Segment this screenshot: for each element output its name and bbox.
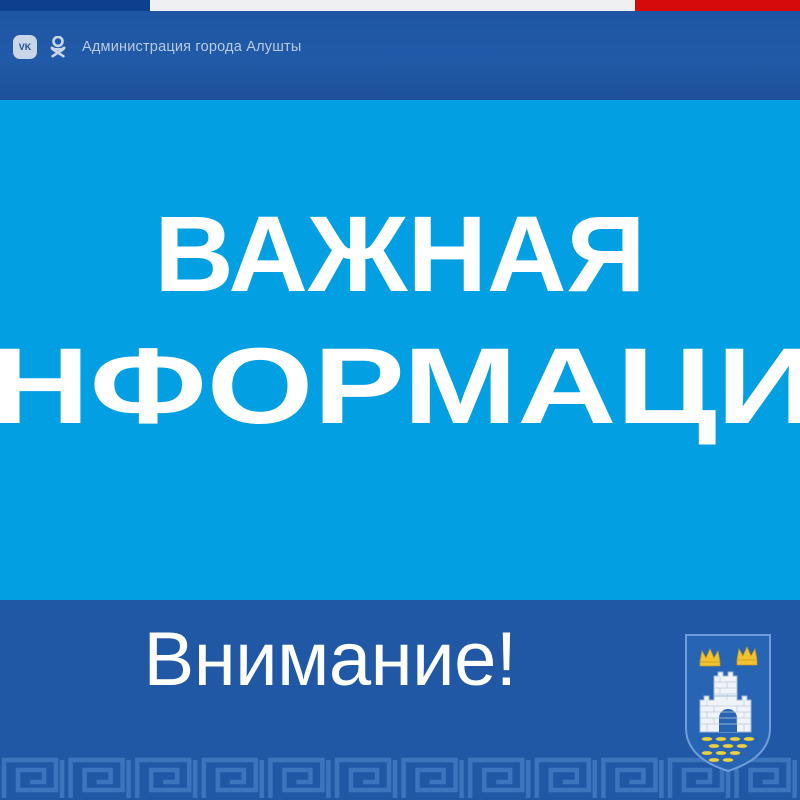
headline-line-1: ВАЖНАЯ xyxy=(0,204,800,303)
vk-icon[interactable]: VK xyxy=(13,35,37,59)
header-band: VK Администрация города Алушты xyxy=(0,11,800,100)
ok-icon[interactable] xyxy=(46,36,69,59)
svg-text:VK: VK xyxy=(19,42,32,52)
flag-segment-red xyxy=(635,0,800,11)
footer-subheading: Внимание! xyxy=(0,622,660,698)
russian-flag-strip xyxy=(0,0,800,11)
flag-segment-white xyxy=(150,0,635,11)
social-attribution-row: VK Администрация города Алушты xyxy=(13,35,302,59)
header-title: Администрация города Алушты xyxy=(82,39,302,55)
greek-key-meander-ornament xyxy=(0,752,800,800)
main-cyan-panel: ВАЖНАЯ ИНФОРМАЦИЯ! xyxy=(0,100,800,600)
flag-segment-blue xyxy=(0,0,150,11)
alushta-coat-of-arms xyxy=(683,632,773,774)
headline-line-2: ИНФОРМАЦИЯ! xyxy=(0,336,800,435)
footer-band: Внимание! xyxy=(0,600,800,800)
poster-root: VK Администрация города Алушты ВАЖНАЯ ИН… xyxy=(0,0,800,800)
